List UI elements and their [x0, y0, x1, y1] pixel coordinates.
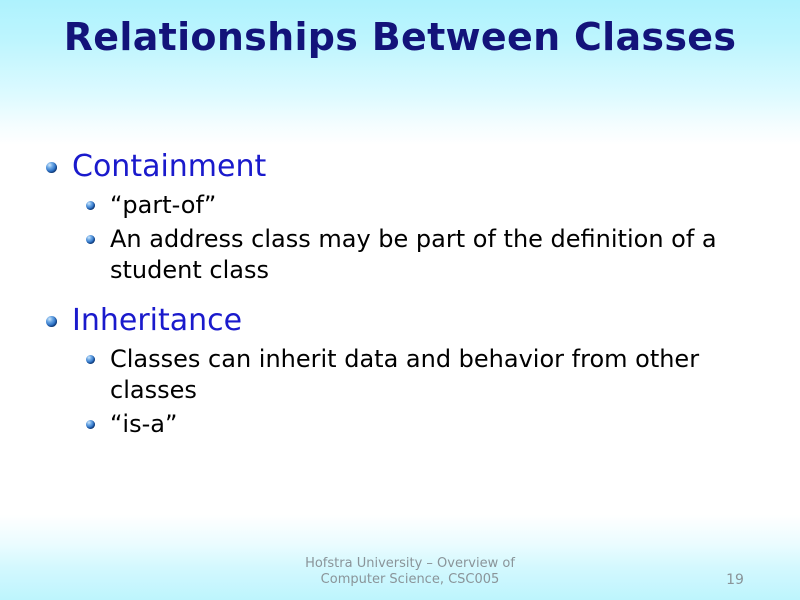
- bullet-level1-containment: Containment: [34, 148, 774, 186]
- bullet-level2-address-class: An address class may be part of the defi…: [34, 224, 774, 286]
- sphere-bullet-icon: [86, 420, 95, 429]
- sphere-bullet-icon: [86, 201, 95, 210]
- slide-footer: Hofstra University – Overview of Compute…: [200, 556, 620, 588]
- bullet-level2-label: “is-a”: [110, 410, 177, 438]
- slide-title: Relationships Between Classes: [60, 14, 740, 60]
- bullet-level1-label: Containment: [72, 149, 266, 184]
- content-group-containment: Containment “part-of” An address class m…: [34, 148, 774, 286]
- slide-page-number: 19: [690, 572, 780, 589]
- bullet-level1-inheritance: Inheritance: [34, 302, 774, 340]
- bullet-level2-inherit-data: Classes can inherit data and behavior fr…: [34, 344, 774, 406]
- slide-body: Containment “part-of” An address class m…: [34, 148, 774, 443]
- sphere-bullet-icon: [86, 235, 95, 244]
- bullet-level2-is-a: “is-a”: [34, 409, 774, 440]
- sphere-bullet-icon: [46, 162, 57, 173]
- sphere-bullet-icon: [86, 355, 95, 364]
- presentation-slide: Relationships Between Classes Containmen…: [0, 0, 800, 600]
- bullet-level2-label: An address class may be part of the defi…: [110, 225, 717, 284]
- content-group-inheritance: Inheritance Classes can inherit data and…: [34, 302, 774, 440]
- bullet-level2-label: “part-of”: [110, 191, 216, 219]
- footer-line-2: Computer Science, CSC005: [200, 572, 620, 588]
- bullet-level1-label: Inheritance: [72, 303, 242, 338]
- sphere-bullet-icon: [46, 316, 57, 327]
- footer-line-1: Hofstra University – Overview of: [200, 556, 620, 572]
- bullet-level2-label: Classes can inherit data and behavior fr…: [110, 345, 699, 404]
- bullet-level2-part-of: “part-of”: [34, 190, 774, 221]
